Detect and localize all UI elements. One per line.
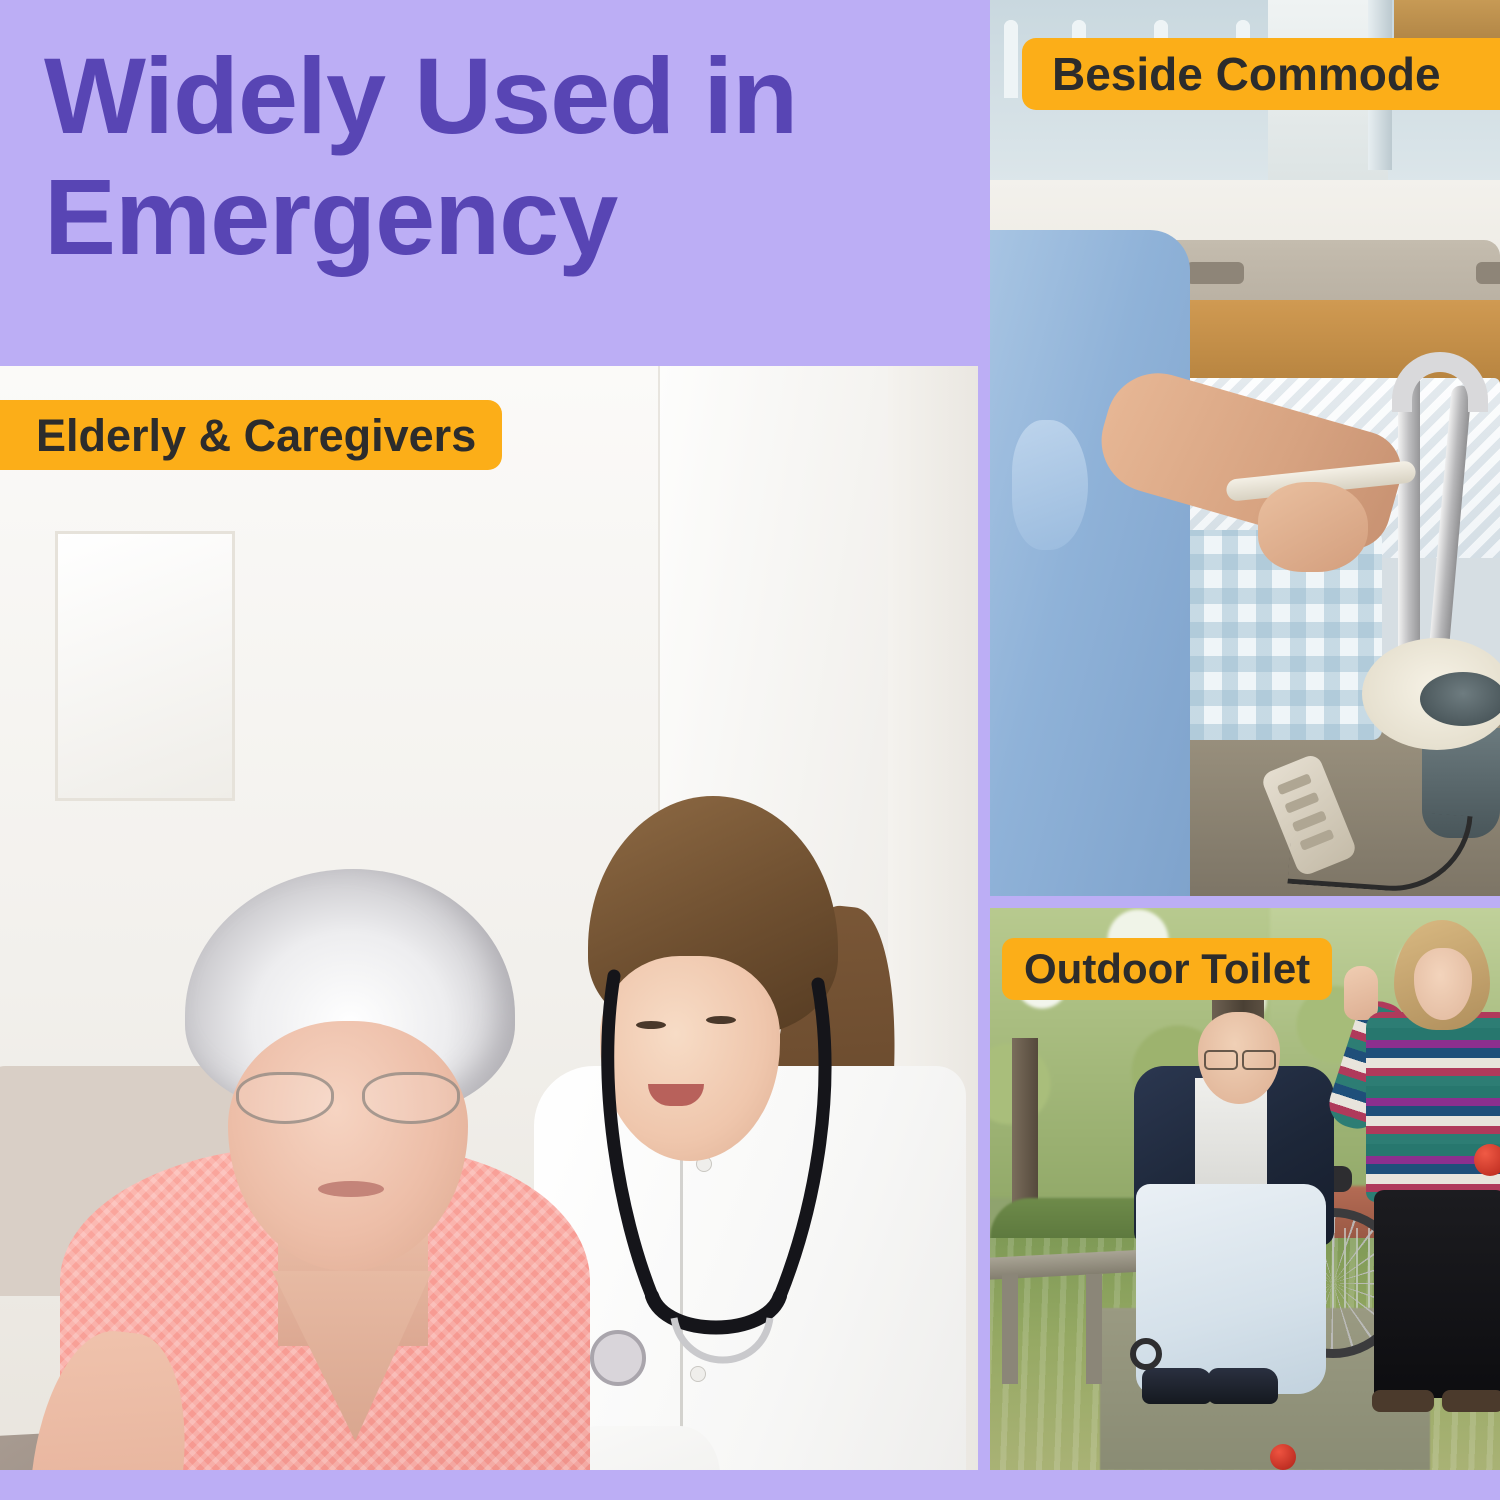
gown-tie: [1012, 420, 1088, 550]
patient-hand: [1258, 482, 1368, 572]
patient-gown: [990, 230, 1190, 896]
caregiver-eye: [706, 1016, 736, 1024]
badge-beside-commode-label: Beside Commode: [1052, 51, 1441, 97]
commode-seat-opening: [1420, 672, 1500, 726]
woman-trousers: [1374, 1190, 1500, 1398]
badge-outdoor-toilet: Outdoor Toilet: [1002, 938, 1332, 1000]
woman-shoe: [1372, 1390, 1434, 1412]
red-ball: [1474, 1144, 1500, 1176]
headboard-handle-slot: [1186, 262, 1244, 284]
badge-beside-commode: Beside Commode: [1022, 38, 1500, 110]
badge-outdoor-toilet-label: Outdoor Toilet: [1024, 948, 1310, 990]
panel-elderly-caregivers: [0, 366, 978, 1470]
badge-elderly-caregivers: Elderly & Caregivers: [0, 400, 502, 470]
bench-leg: [1086, 1274, 1102, 1384]
wheelchair-caster: [1130, 1338, 1162, 1370]
badge-elderly-caregivers-label: Elderly & Caregivers: [36, 413, 476, 458]
panel-beside-commode: [990, 0, 1500, 896]
eyeglasses-icon: [228, 1066, 468, 1124]
lap-blanket: [1136, 1184, 1326, 1394]
man-shoe: [1142, 1368, 1212, 1404]
elderly-woman-mouth: [318, 1181, 384, 1197]
headboard-handle-slot: [1476, 262, 1500, 284]
red-ball: [1270, 1444, 1296, 1470]
caregiver-eye: [636, 1021, 666, 1029]
woman-raised-hand: [1344, 966, 1378, 1020]
woman-shoe: [1442, 1390, 1500, 1412]
lab-coat-button: [690, 1366, 706, 1382]
eyeglasses-icon: [1202, 1050, 1278, 1068]
wall-picture-frame: [55, 531, 235, 801]
man-shoe: [1208, 1368, 1278, 1404]
woman-patterned-sweater: [1366, 1012, 1500, 1202]
curtain-hook: [1004, 20, 1018, 98]
page-title: Widely Used in Emergency: [44, 36, 944, 278]
bench-leg: [1002, 1274, 1018, 1384]
